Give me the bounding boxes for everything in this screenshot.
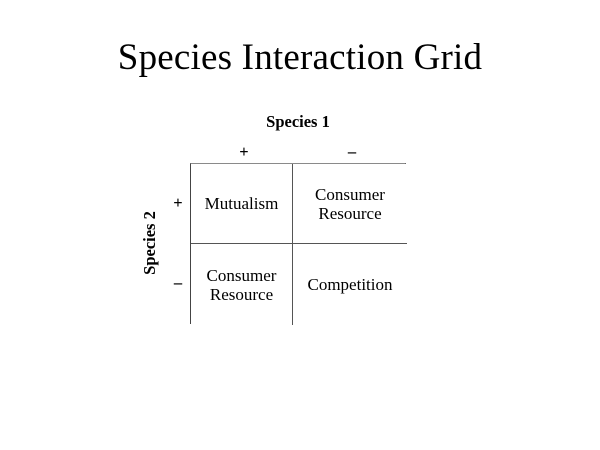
row-label-negative: – [168, 273, 188, 293]
column-label-negative: – [298, 142, 406, 162]
grid-cell-label: Competition [308, 275, 393, 294]
column-label-positive: + [190, 142, 298, 162]
grid-cell-consumer-resource-top-right: Consumer Resource [293, 164, 407, 244]
row-label-positive: + [168, 193, 188, 213]
grid-cell-consumer-resource-bottom-left: Consumer Resource [191, 244, 293, 325]
grid-cell-competition: Competition [293, 244, 407, 325]
slide-canvas: Species Interaction Grid Species 1 + – S… [0, 0, 600, 450]
page-title: Species Interaction Grid [0, 36, 600, 80]
axis-title-species-2-text: Species 2 [140, 153, 160, 333]
grid-cell-mutualism: Mutualism [191, 164, 293, 244]
axis-title-species-1: Species 1 [190, 112, 406, 132]
grid-cell-label: Consumer Resource [207, 266, 277, 304]
interaction-grid: Mutualism Consumer Resource Consumer Res… [190, 163, 406, 324]
grid-cell-label: Consumer Resource [315, 185, 385, 223]
grid-cell-label: Mutualism [205, 194, 279, 213]
